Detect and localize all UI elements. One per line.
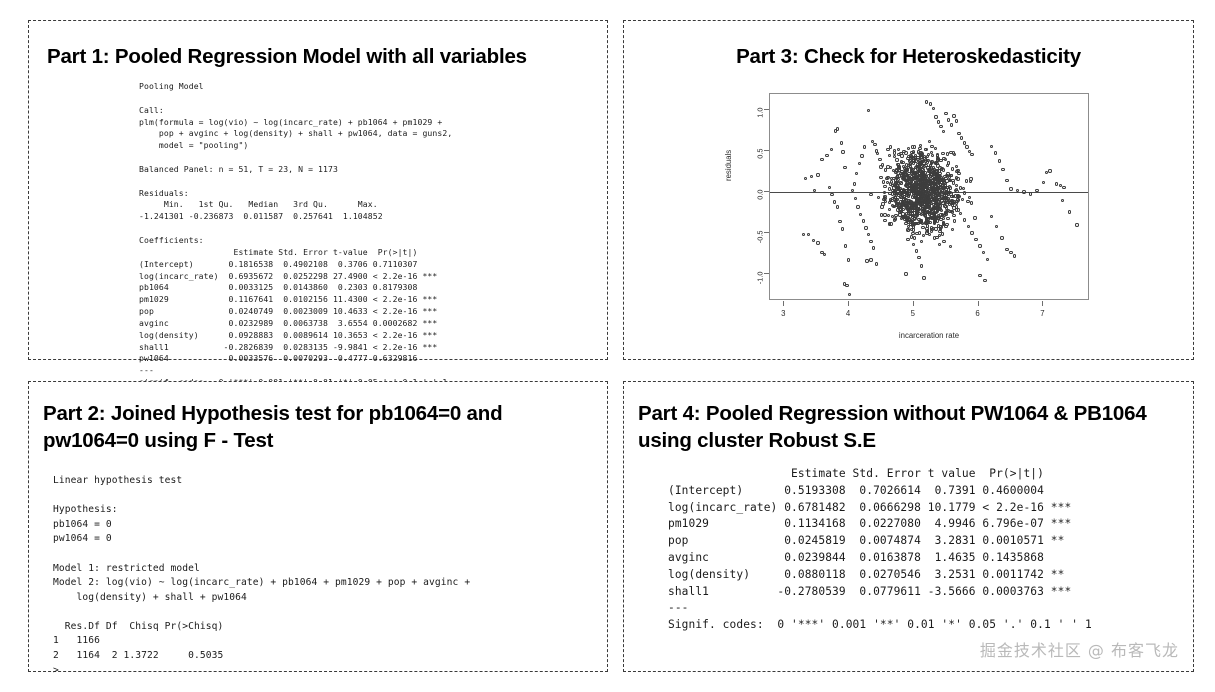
scatter-point <box>938 169 941 172</box>
scatter-point <box>909 154 912 157</box>
scatter-point <box>950 174 953 177</box>
scatter-point <box>836 205 839 208</box>
scatter-point <box>902 150 905 153</box>
panel-part-4: Part 4: Pooled Regression without PW1064… <box>623 381 1194 672</box>
x-tick-mark <box>783 301 784 306</box>
scatter-point <box>867 109 870 112</box>
scatter-point <box>919 221 922 224</box>
scatter-point <box>950 195 953 198</box>
scatter-point <box>825 154 828 157</box>
scatter-point <box>883 213 886 216</box>
scatter-point <box>894 214 897 217</box>
scatter-point <box>965 145 968 148</box>
scatter-point <box>983 279 986 282</box>
scatter-point <box>915 232 918 235</box>
scatter-point <box>910 201 913 204</box>
scatter-point <box>937 206 940 209</box>
scatter-point <box>884 168 887 171</box>
scatter-point <box>956 169 959 172</box>
scatter-point <box>986 258 989 261</box>
scatter-point <box>887 214 890 217</box>
scatter-point <box>978 244 981 247</box>
scatter-point <box>926 155 929 158</box>
scatter-point <box>953 219 956 222</box>
scatter-point <box>830 148 833 151</box>
scatter-point <box>918 147 921 150</box>
scatter-point <box>907 147 910 150</box>
scatter-point <box>804 177 807 180</box>
scatter-point <box>929 102 932 105</box>
scatter-point <box>881 202 884 205</box>
scatter-point <box>889 145 892 148</box>
scatter-point <box>941 179 944 182</box>
scatter-point <box>937 224 940 227</box>
scatter-point <box>970 201 973 204</box>
scatter-point <box>897 148 900 151</box>
part-3-title: Part 3: Check for Heteroskedasticity <box>624 43 1193 70</box>
scatter-point <box>924 190 927 193</box>
scatter-point <box>847 258 850 261</box>
scatter-point <box>924 148 927 151</box>
scatter-point <box>942 130 945 133</box>
scatter-point <box>969 177 972 180</box>
scatter-point <box>900 154 903 157</box>
scatter-point <box>973 216 976 219</box>
scatter-point <box>1009 187 1012 190</box>
scatter-point <box>908 213 911 216</box>
part-1-title: Part 1: Pooled Regression Model with all… <box>47 43 607 70</box>
scatter-point <box>990 215 993 218</box>
scatter-point <box>916 167 919 170</box>
scatter-point <box>896 174 899 177</box>
scatter-point <box>889 198 892 201</box>
scatter-point <box>888 187 891 190</box>
scatter-point <box>895 158 898 161</box>
y-tick-label: -1.0 <box>756 272 765 296</box>
x-tick-mark <box>913 301 914 306</box>
scatter-point <box>1055 182 1058 185</box>
part-4-code-output: Estimate Std. Error t value Pr(>|t|) (In… <box>668 466 1193 634</box>
scatter-point <box>930 172 933 175</box>
scatter-point <box>937 120 940 123</box>
scatter-point <box>1048 169 1051 172</box>
scatter-point <box>930 145 933 148</box>
scatter-point <box>904 272 907 275</box>
scatter-point <box>906 228 909 231</box>
panel-part-2: Part 2: Joined Hypothesis test for pb106… <box>28 381 608 672</box>
scatter-point <box>928 140 931 143</box>
scatter-point <box>949 245 952 248</box>
scatter-point <box>933 189 936 192</box>
scatter-point <box>860 154 863 157</box>
scatter-point <box>913 145 916 148</box>
scatter-point <box>823 253 826 256</box>
scatter-point <box>916 156 919 159</box>
y-tick-label: 0.0 <box>756 190 765 214</box>
scatter-point <box>875 262 878 265</box>
part-2-title: Part 2: Joined Hypothesis test for pb106… <box>43 400 591 454</box>
scatter-point <box>820 158 823 161</box>
scatter-point <box>1075 223 1078 226</box>
scatter-point <box>955 184 958 187</box>
scatter-point <box>880 213 883 216</box>
scatter-point <box>897 153 900 156</box>
scatter-point <box>894 217 897 220</box>
scatter-point <box>914 203 917 206</box>
scatter-point <box>913 236 916 239</box>
scatter-point <box>947 118 950 121</box>
scatter-point <box>908 186 911 189</box>
scatter-point <box>939 125 942 128</box>
scatter-point <box>965 179 968 182</box>
scatter-point <box>950 210 953 213</box>
y-tick-label: -0.5 <box>756 231 765 255</box>
scatter-point <box>968 196 971 199</box>
scatter-point <box>883 185 886 188</box>
scatter-point <box>970 153 973 156</box>
scatter-point <box>955 119 958 122</box>
scatter-point <box>1029 192 1032 195</box>
scatter-point <box>957 208 960 211</box>
scatter-point <box>845 284 848 287</box>
scatter-point <box>928 233 931 236</box>
scatter-point <box>935 162 938 165</box>
scatter-point <box>844 244 847 247</box>
scatter-point <box>1042 181 1045 184</box>
x-tick-label: 4 <box>834 309 862 318</box>
scatter-point <box>944 225 947 228</box>
scatter-point <box>903 217 906 220</box>
y-tick-mark <box>764 273 769 274</box>
scatter-point <box>864 226 867 229</box>
part-1-code-output: Pooling Model Call: plm(formula = log(vi… <box>139 81 607 389</box>
scatter-point <box>952 206 955 209</box>
scatter-point <box>995 225 998 228</box>
scatter-point <box>957 132 960 135</box>
scatter-point <box>919 151 922 154</box>
scatter-point <box>1005 179 1008 182</box>
scatter-point <box>883 191 886 194</box>
scatter-point <box>938 243 941 246</box>
scatter-point <box>877 196 880 199</box>
scatter-point <box>853 182 856 185</box>
scatter-point <box>942 168 945 171</box>
scatter-point <box>888 154 891 157</box>
scatter-point <box>951 228 954 231</box>
scatter-point <box>1000 236 1003 239</box>
scatter-point <box>1022 190 1025 193</box>
y-tick-mark <box>764 150 769 151</box>
scatter-point <box>854 197 857 200</box>
scatter-point <box>879 176 882 179</box>
scatter-point <box>955 176 958 179</box>
scatter-point <box>930 226 933 229</box>
scatter-point <box>872 246 875 249</box>
scatter-point <box>952 114 955 117</box>
scatter-point <box>840 141 843 144</box>
scatter-point <box>905 193 908 196</box>
scatter-point <box>912 243 915 246</box>
scatter-point <box>990 145 993 148</box>
scatter-point <box>952 214 955 217</box>
scatter-point <box>902 188 905 191</box>
scatter-point <box>911 209 914 212</box>
scatter-point <box>928 205 931 208</box>
y-tick-mark <box>764 109 769 110</box>
y-tick-mark <box>764 232 769 233</box>
y-tick-mark <box>764 191 769 192</box>
scatter-point <box>963 141 966 144</box>
scatter-point <box>926 160 929 163</box>
scatter-point <box>856 205 859 208</box>
scatter-point <box>925 100 928 103</box>
residual-scatter-plot: -1.0-0.50.00.51.0 34567 incarceration ra… <box>624 81 1195 356</box>
scatter-point <box>859 213 862 216</box>
part-2-code-output: Linear hypothesis test Hypothesis: pb106… <box>53 474 607 678</box>
scatter-point <box>934 202 937 205</box>
scatter-point <box>843 166 846 169</box>
scatter-point <box>937 214 940 217</box>
scatter-point <box>896 190 899 193</box>
scatter-point <box>841 227 844 230</box>
scatter-point <box>915 249 918 252</box>
x-axis-title: incarceration rate <box>769 331 1089 340</box>
scatter-point <box>1035 189 1038 192</box>
scatter-point <box>931 168 934 171</box>
scatter-point <box>998 159 1001 162</box>
scatter-point <box>939 159 942 162</box>
scatter-point <box>885 177 888 180</box>
x-tick-label: 7 <box>1028 309 1056 318</box>
scatter-point <box>873 143 876 146</box>
scatter-point <box>923 210 926 213</box>
scatter-point <box>914 214 917 217</box>
scatter-point <box>923 174 926 177</box>
scatter-point <box>915 197 918 200</box>
scatter-point <box>911 159 914 162</box>
scatter-point <box>978 274 981 277</box>
part-4-title: Part 4: Pooled Regression without PW1064… <box>638 400 1179 454</box>
x-tick-mark <box>848 301 849 306</box>
scatter-point <box>901 208 904 211</box>
scatter-point <box>906 174 909 177</box>
scatter-point <box>917 256 920 259</box>
scatter-point <box>943 204 946 207</box>
scatter-point <box>879 165 882 168</box>
scatter-point <box>1062 186 1065 189</box>
scatter-point <box>816 173 819 176</box>
y-axis-title: residuals <box>724 150 733 181</box>
y-tick-label: 0.5 <box>756 149 765 173</box>
scatter-point <box>938 202 941 205</box>
scatter-point <box>928 212 931 215</box>
scatter-point <box>929 164 932 167</box>
scatter-point <box>942 240 945 243</box>
scatter-point <box>855 172 858 175</box>
scatter-point <box>836 127 839 130</box>
scatter-point <box>883 196 886 199</box>
scatter-point <box>944 212 947 215</box>
scatter-point <box>943 175 946 178</box>
x-tick-mark <box>978 301 979 306</box>
scatter-point <box>841 150 844 153</box>
scatter-point <box>882 180 885 183</box>
scatter-point <box>935 236 938 239</box>
scatter-point <box>922 276 925 279</box>
scatter-point <box>862 219 865 222</box>
scatter-point <box>869 240 872 243</box>
scatter-point <box>869 258 872 261</box>
scatter-point <box>962 187 965 190</box>
scatter-point <box>880 205 883 208</box>
scatter-point <box>938 186 941 189</box>
scatter-point <box>925 196 928 199</box>
scatter-point <box>848 293 851 296</box>
scatter-point <box>926 224 929 227</box>
scatter-point <box>875 149 878 152</box>
scatter-point <box>955 200 958 203</box>
scatter-point <box>906 238 909 241</box>
scatter-point <box>893 149 896 152</box>
scatter-point <box>908 180 911 183</box>
scatter-point <box>949 151 952 154</box>
scatter-point <box>807 233 810 236</box>
scatter-point <box>934 172 937 175</box>
watermark: 掘金技术社区 @ 布客飞龙 <box>980 637 1179 661</box>
scatter-point <box>888 222 891 225</box>
scatter-point <box>951 202 954 205</box>
x-tick-label: 5 <box>899 309 927 318</box>
scatter-point <box>942 186 945 189</box>
scatter-point <box>858 162 861 165</box>
scatter-point <box>1005 248 1008 251</box>
scatter-point <box>899 181 902 184</box>
scatter-point <box>982 251 985 254</box>
scatter-point <box>863 145 866 148</box>
scatter-point <box>926 182 929 185</box>
scatter-point <box>810 175 813 178</box>
scatter-point <box>941 232 944 235</box>
scatter-point <box>920 240 923 243</box>
scatter-point <box>963 218 966 221</box>
scatter-point <box>890 180 893 183</box>
scatter-point <box>921 226 924 229</box>
scatter-point <box>1013 254 1016 257</box>
scatter-point <box>883 219 886 222</box>
scatter-point <box>867 233 870 236</box>
scatter-point <box>938 230 941 233</box>
scatter-point <box>928 221 931 224</box>
scatter-point <box>930 197 933 200</box>
x-tick-label: 3 <box>769 309 797 318</box>
scatter-point <box>865 259 868 262</box>
scatter-point <box>960 136 963 139</box>
scatter-point <box>933 218 936 221</box>
scatter-point <box>920 264 923 267</box>
scatter-point <box>963 191 966 194</box>
panel-part-1: Part 1: Pooled Regression Model with all… <box>28 20 608 360</box>
scatter-point <box>828 186 831 189</box>
scatter-point <box>802 233 805 236</box>
scatter-point <box>953 153 956 156</box>
scatter-point <box>1068 210 1071 213</box>
scatter-point <box>967 225 970 228</box>
scatter-point <box>909 219 912 222</box>
scatter-point <box>916 173 919 176</box>
scatter-point <box>1059 184 1062 187</box>
scatter-point <box>922 157 925 160</box>
scatter-point <box>955 165 958 168</box>
scatter-point <box>974 238 977 241</box>
scatter-point <box>1061 199 1064 202</box>
scatter-point <box>941 152 944 155</box>
scatter-point <box>959 212 962 215</box>
scatter-point <box>994 151 997 154</box>
scatter-point <box>961 198 964 201</box>
scatter-point <box>944 201 947 204</box>
scatter-point <box>951 167 954 170</box>
scatter-point <box>812 239 815 242</box>
x-tick-label: 6 <box>964 309 992 318</box>
panel-part-3: Part 3: Check for Heteroskedasticity -1.… <box>623 20 1194 360</box>
scatter-point <box>833 200 836 203</box>
scatter-point <box>869 193 872 196</box>
scatter-point <box>946 152 949 155</box>
scatter-point <box>970 231 973 234</box>
scatter-point <box>910 171 913 174</box>
scatter-point <box>816 241 819 244</box>
scatter-point <box>888 208 891 211</box>
scatter-point <box>931 154 934 157</box>
scatter-point <box>944 112 947 115</box>
scatter-point <box>830 193 833 196</box>
plot-area <box>769 93 1089 300</box>
y-tick-label: 1.0 <box>756 108 765 132</box>
scatter-point <box>946 217 949 220</box>
scatter-point <box>838 220 841 223</box>
scatter-point <box>933 214 936 217</box>
scatter-point <box>947 161 950 164</box>
x-tick-mark <box>1042 301 1043 306</box>
scatter-point <box>1001 168 1004 171</box>
scatter-point <box>934 115 937 118</box>
scatter-point <box>909 206 912 209</box>
scatter-point <box>932 107 935 110</box>
scatter-point <box>898 165 901 168</box>
scatter-point <box>950 123 953 126</box>
scatter-point <box>905 179 908 182</box>
scatter-point <box>878 158 881 161</box>
scatter-point <box>922 161 925 164</box>
scatter-point <box>934 147 937 150</box>
